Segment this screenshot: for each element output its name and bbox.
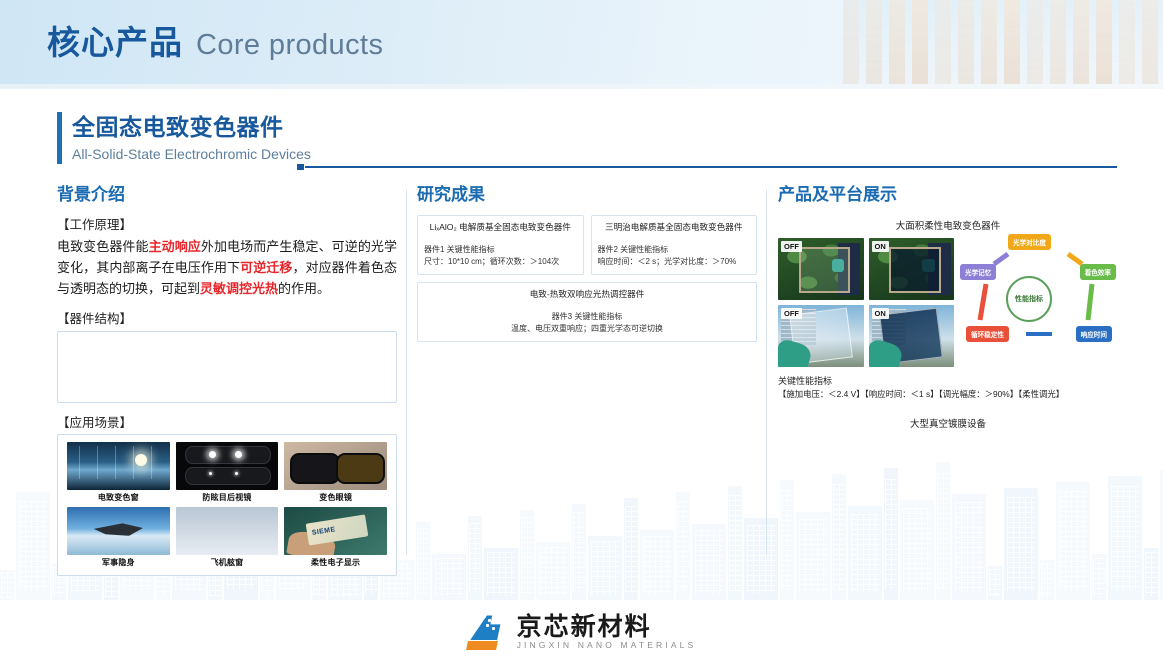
company-logo-icon xyxy=(467,614,507,650)
principle-text-4: 的作用。 xyxy=(278,281,330,296)
state-badge-on: ON xyxy=(872,308,889,319)
slide-header: 核心产品 Core products xyxy=(0,0,1163,84)
company-name: 京芯新材料 JINGXIN NANO MATERIALS xyxy=(517,614,697,650)
column-divider-left xyxy=(406,190,407,555)
product-photo: OFF xyxy=(778,238,864,300)
application-grid: 电致变色窗 防眩目后视镜 变色眼镜 xyxy=(58,435,396,575)
principle-paragraph: 电致变色器件能主动响应外加电场而产生稳定、可逆的光学变化，其内部离子在电压作用下… xyxy=(57,236,397,299)
header-title-en: Core products xyxy=(196,29,383,62)
column-background: 背景介绍 【工作原理】 电致变色器件能主动响应外加电场而产生稳定、可逆的光学变化… xyxy=(57,180,397,576)
flexible-display-photo: SIEME xyxy=(284,507,387,555)
research-card: 三明治电解质基全固态电致变色器件 器件2 关键性能指标 响应时间：＜2 s；光学… xyxy=(591,215,758,275)
device-structure-stack xyxy=(176,336,286,398)
app-item: 电致变色窗 xyxy=(67,442,170,503)
header-title-cn: 核心产品 xyxy=(47,16,183,64)
page-title-cn: 全固态电致变色器件 xyxy=(72,108,311,142)
app-caption: 军事隐身 xyxy=(102,557,135,568)
research-card: LiₓAlO₂ 电解质基全固态电致变色器件 器件1 关键性能指标 尺寸：10*1… xyxy=(417,215,584,275)
anti-glare-mirror-photo xyxy=(176,442,279,490)
equipment-label: 大型真空镀膜设备 xyxy=(778,416,1118,430)
state-badge-off: OFF xyxy=(781,308,802,319)
column-products: 产品及平台展示 大面积柔性电致变色器件 OFF ON OFF ON xyxy=(778,180,1118,436)
header-underline xyxy=(0,84,1163,89)
principle-highlight-1: 主动响应 xyxy=(149,239,201,254)
header-building-photo xyxy=(843,0,1163,84)
principle-highlight-3: 灵敏调控光热 xyxy=(200,281,278,296)
slide: 核心产品 Core products 全固态电致变色器件 All-Solid-S… xyxy=(0,0,1163,663)
research-card-metrics: 器件3 关键性能指标 温度、电压双重响应；四重光学态可逆切换 xyxy=(418,307,756,341)
research-card: 电致-热致双响应光热调控器件 器件3 关键性能指标 温度、电压双重响应；四重光学… xyxy=(417,282,757,342)
product-photo: ON xyxy=(869,238,955,300)
structure-label: 【器件结构】 xyxy=(57,308,397,327)
scenario-label: 【应用场景】 xyxy=(57,412,397,431)
principle-label: 【工作原理】 xyxy=(57,214,397,233)
metric-value: 温度、电压双重响应；四重光学态可逆切换 xyxy=(424,323,750,335)
metric-value: 尺寸：10*10 cm；循环次数：＞104次 xyxy=(424,256,577,268)
page-title-accent-bar xyxy=(57,112,62,164)
column-divider-right xyxy=(766,190,767,555)
metric-label: 器件2 关键性能指标 xyxy=(598,244,751,256)
page-title-en: All-Solid-State Electrochromic Devices xyxy=(72,146,311,162)
app-item: 军事隐身 xyxy=(67,507,170,568)
research-heading: 研究成果 xyxy=(417,180,757,205)
research-card-metrics: 器件2 关键性能指标 响应时间：＜2 s；光学对比度：＞70% xyxy=(592,240,757,274)
state-badge-off: OFF xyxy=(781,241,802,252)
page-title-rule xyxy=(305,166,1117,168)
aircraft-window-photo xyxy=(176,507,279,555)
app-item: 飞机舷窗 xyxy=(176,507,279,568)
metric-arrows xyxy=(964,238,1114,353)
app-caption: 变色眼镜 xyxy=(319,492,352,503)
key-metrics-value: 【施加电压：＜2.4 V】【响应时间：＜1 s】【调光幅度：＞90%】【柔性调光… xyxy=(778,388,1118,400)
column-research: 研究成果 LiₓAlO₂ 电解质基全固态电致变色器件 器件1 关键性能指标 尺寸… xyxy=(417,180,757,342)
app-caption: 飞机舷窗 xyxy=(211,557,244,568)
device-structure-figure xyxy=(57,331,397,403)
state-badge-on: ON xyxy=(872,241,889,252)
products-heading: 产品及平台展示 xyxy=(778,180,1118,205)
research-card-title: 三明治电解质基全固态电致变色器件 xyxy=(592,216,757,236)
app-caption: 柔性电子显示 xyxy=(311,557,360,568)
background-heading: 背景介绍 xyxy=(57,180,397,205)
electrochromic-window-photo xyxy=(67,442,170,490)
key-metrics-label: 关键性能指标 xyxy=(778,374,1118,387)
metric-value: 响应时间：＜2 s；光学对比度：＞70% xyxy=(598,256,751,268)
application-scenarios-panel: 电致变色窗 防眩目后视镜 变色眼镜 xyxy=(57,434,397,576)
metric-label: 器件3 关键性能指标 xyxy=(424,311,750,323)
flexible-device-label: 大面积柔性电致变色器件 xyxy=(778,218,1118,232)
app-item: SIEME 柔性电子显示 xyxy=(284,507,387,568)
research-card-metrics: 器件1 关键性能指标 尺寸：10*10 cm；循环次数：＞104次 xyxy=(418,240,583,274)
app-caption: 电致变色窗 xyxy=(98,492,139,503)
app-item: 变色眼镜 xyxy=(284,442,387,503)
slide-footer: 京芯新材料 JINGXIN NANO MATERIALS xyxy=(0,600,1163,663)
principle-highlight-2: 可逆迁移 xyxy=(240,260,292,275)
photochromic-glasses-photo xyxy=(284,442,387,490)
performance-metric-diagram: 性能指标 光学对比度 光学记忆 着色效率 循环稳定性 响应时间 xyxy=(964,238,1114,353)
metric-label: 器件1 关键性能指标 xyxy=(424,244,577,256)
app-item: 防眩目后视镜 xyxy=(176,442,279,503)
research-card-title: 电致-热致双响应光热调控器件 xyxy=(418,283,756,303)
research-card-title: LiₓAlO₂ 电解质基全固态电致变色器件 xyxy=(418,216,583,236)
product-photo: ON xyxy=(869,305,955,367)
product-photo-grid: OFF ON OFF ON xyxy=(778,238,954,367)
header-title: 核心产品 Core products xyxy=(47,16,383,64)
company-name-en: JINGXIN NANO MATERIALS xyxy=(517,640,697,650)
page-title: 全固态电致变色器件 All-Solid-State Electrochromic… xyxy=(57,108,311,162)
principle-text-1: 电致变色器件能 xyxy=(57,239,149,254)
military-stealth-photo xyxy=(67,507,170,555)
product-photo: OFF xyxy=(778,305,864,367)
app-caption: 防眩目后视镜 xyxy=(202,492,251,503)
company-name-cn: 京芯新材料 xyxy=(517,614,697,640)
